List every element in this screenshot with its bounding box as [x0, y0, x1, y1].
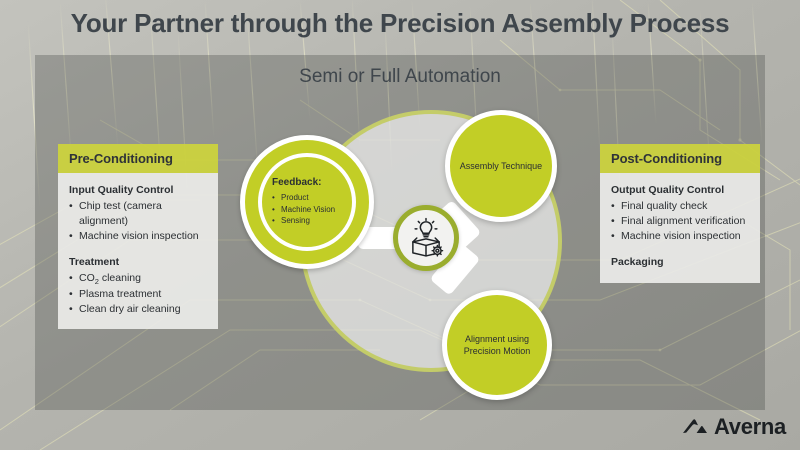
- averna-mountain-icon: [682, 417, 708, 437]
- post-conditioning-panel: Post-Conditioning Output Quality Control…: [600, 144, 760, 283]
- averna-logo: Averna: [682, 414, 786, 440]
- pre-conditioning-panel: Pre-Conditioning Input Quality Control C…: [58, 144, 218, 329]
- group-title: Packaging: [611, 255, 750, 270]
- feedback-item: Machine Vision: [272, 204, 342, 216]
- list-item: Clean dry air cleaning: [69, 302, 208, 317]
- subscript: 2: [95, 277, 99, 286]
- group-title: Output Quality Control: [611, 183, 750, 198]
- list-item: Final alignment verification: [611, 214, 750, 229]
- list-item: Machine vision inspection: [69, 229, 208, 244]
- node-alignment-precision-motion[interactable]: Alignment using Precision Motion: [442, 290, 552, 400]
- page-subtitle: Semi or Full Automation: [0, 66, 800, 88]
- pre-conditioning-heading: Pre-Conditioning: [58, 144, 218, 173]
- node-assembly-label: Assembly Technique: [452, 160, 550, 172]
- list-group: Input Quality Control Chip test (camera …: [69, 183, 208, 244]
- list-item: Chip test (camera alignment): [69, 199, 208, 229]
- post-conditioning-body: Output Quality Control Final quality che…: [600, 173, 760, 283]
- node-assembly-technique[interactable]: Assembly Technique: [445, 110, 557, 222]
- center-hub[interactable]: [393, 205, 459, 271]
- list-group: Treatment CO2 cleaning Plasma treatment …: [69, 255, 208, 317]
- page-title: Your Partner through the Precision Assem…: [0, 8, 800, 39]
- node-feedback[interactable]: Feedback: Product Machine Vision Sensing: [240, 135, 374, 269]
- feedback-item: Sensing: [272, 215, 342, 227]
- feedback-title: Feedback:: [272, 177, 342, 188]
- list-group: Output Quality Control Final quality che…: [611, 183, 750, 244]
- box-lightbulb-gear-icon: [405, 217, 447, 259]
- node-alignment-label: Alignment using Precision Motion: [447, 333, 547, 357]
- post-conditioning-heading: Post-Conditioning: [600, 144, 760, 173]
- averna-logo-text: Averna: [714, 414, 786, 440]
- pre-conditioning-body: Input Quality Control Chip test (camera …: [58, 173, 218, 329]
- group-title: Treatment: [69, 255, 208, 270]
- group-title: Input Quality Control: [69, 183, 208, 198]
- list-item: Plasma treatment: [69, 287, 208, 302]
- list-item: Final quality check: [611, 199, 750, 214]
- list-group: Packaging: [611, 255, 750, 270]
- list-item: Machine vision inspection: [611, 229, 750, 244]
- process-diagram: Feedback: Product Machine Vision Sensing…: [230, 95, 590, 395]
- node-feedback-inner: Feedback: Product Machine Vision Sensing: [258, 153, 356, 251]
- feedback-item: Product: [272, 192, 342, 204]
- list-item: CO2 cleaning: [69, 271, 208, 288]
